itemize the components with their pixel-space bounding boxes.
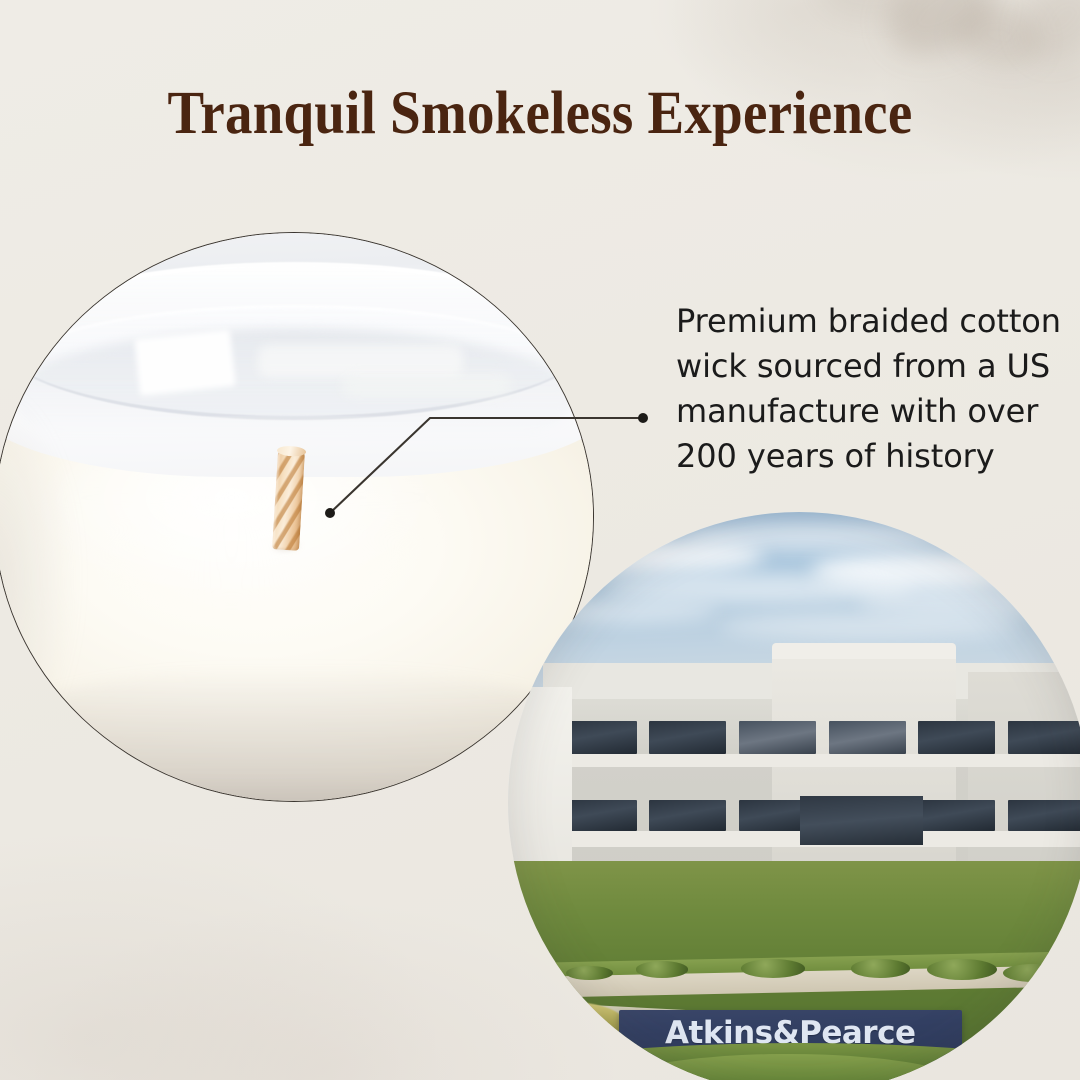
building-right-wing	[968, 672, 1080, 884]
cloud	[718, 613, 1021, 639]
shrub	[741, 959, 805, 978]
desc-line-1: Premium braided cotton	[676, 299, 1072, 344]
cloud	[520, 600, 718, 623]
rim-reflection	[342, 374, 511, 397]
window	[1008, 721, 1080, 754]
atkins-pearce-facility-image: Atkins&Pearce	[508, 512, 1080, 1080]
ornamental-grass	[1009, 1001, 1080, 1048]
window	[739, 721, 816, 754]
wax-bottom-shading	[0, 666, 594, 802]
page-title: Tranquil Smokeless Experience	[54, 80, 1026, 148]
window-row-upper	[543, 721, 1080, 754]
window	[918, 800, 995, 831]
shrub	[566, 966, 613, 980]
infographic-canvas: Tranquil Smokeless Experience Premium br…	[0, 0, 1080, 1080]
window	[649, 721, 726, 754]
window	[918, 721, 995, 754]
building-center-cap	[772, 643, 956, 658]
ornamental-grass	[508, 1001, 624, 1043]
office-building	[543, 663, 1080, 884]
building-center-tower	[772, 643, 956, 891]
desc-line-2: wick sourced from a US	[676, 344, 1072, 389]
desc-line-4: 200 years of history	[676, 434, 1072, 479]
shrub	[927, 959, 997, 980]
rim-reflection	[135, 329, 237, 396]
rim-reflection	[258, 345, 463, 376]
window	[649, 800, 726, 831]
shrub	[1003, 964, 1067, 983]
shrub	[636, 961, 688, 977]
building-entrance	[800, 796, 923, 845]
shrub	[851, 959, 909, 978]
callout-description: Premium braided cotton wick sourced from…	[676, 299, 1072, 479]
lawn: Atkins&Pearce	[508, 861, 1080, 1080]
building-band	[543, 754, 1080, 767]
window	[829, 721, 906, 754]
window	[1008, 800, 1080, 831]
cloud	[683, 522, 951, 551]
desc-line-3: manufacture with over	[676, 389, 1072, 434]
